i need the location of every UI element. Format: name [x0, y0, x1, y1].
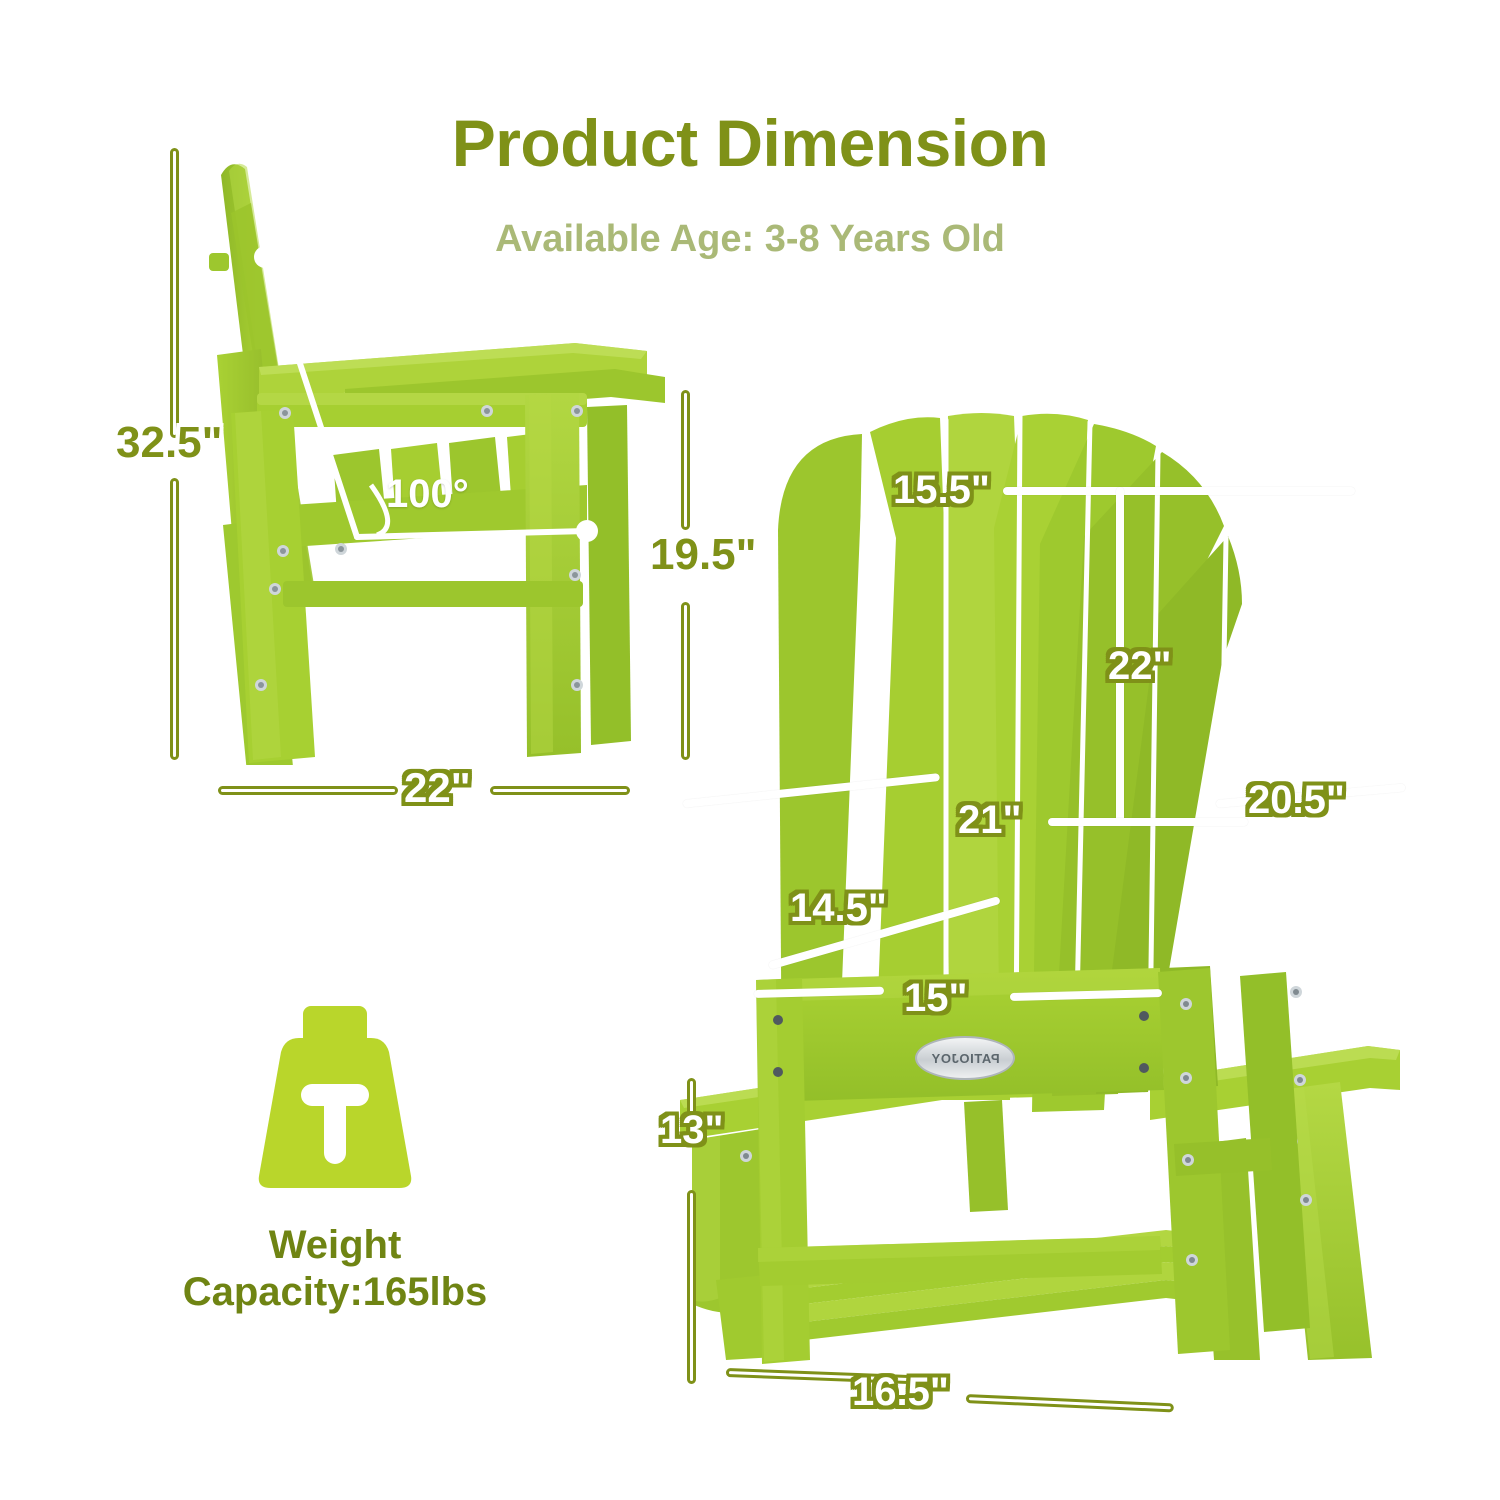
weight-label-line2: Capacity:165lbs: [120, 1269, 550, 1316]
rule-seat-height-lower: [687, 1190, 696, 1384]
front-view-chair-base-art: [740, 960, 1400, 1380]
line-back-lower-width: [1048, 818, 1248, 826]
brand-badge: PATIOJOY: [915, 1036, 1015, 1080]
rule-overall-depth-left: [218, 786, 398, 795]
dimension-arm-height: 14.5": [790, 886, 887, 931]
brand-badge-text: PATIOJOY: [931, 1051, 1000, 1066]
dimension-overall-height: 32.5": [116, 418, 223, 468]
weight-capacity-text: Weight Capacity:165lbs: [120, 1222, 550, 1316]
dimension-base-width: 16.5": [852, 1370, 949, 1415]
rule-base-width-right: [966, 1394, 1174, 1412]
dimension-back-lower-width: 21": [958, 798, 1021, 843]
dimension-back-top-width: 15.5": [893, 468, 990, 513]
dimension-seat-width: 15": [904, 976, 967, 1021]
dimension-arm-depth: 20.5": [1248, 778, 1345, 823]
weight-plate-icon: [245, 1000, 425, 1200]
weight-capacity-block: Weight Capacity:165lbs: [120, 1000, 550, 1316]
dimension-overall-depth: 22": [404, 764, 471, 812]
weight-label-line1: Weight: [120, 1222, 550, 1269]
dimension-backrest-angle: 100°: [386, 472, 469, 517]
rule-overall-height-top: [170, 148, 179, 438]
product-dimension-infographic: Product Dimension Available Age: 3-8 Yea…: [0, 0, 1500, 1500]
rule-overall-depth-right: [490, 786, 630, 795]
line-back-top-width: [1003, 487, 1355, 495]
rule-overall-height-bottom: [170, 478, 179, 760]
dimension-back-height: 22": [1108, 644, 1171, 689]
dimension-seat-height: 13": [660, 1108, 723, 1153]
side-view-chair-art: [195, 145, 675, 765]
